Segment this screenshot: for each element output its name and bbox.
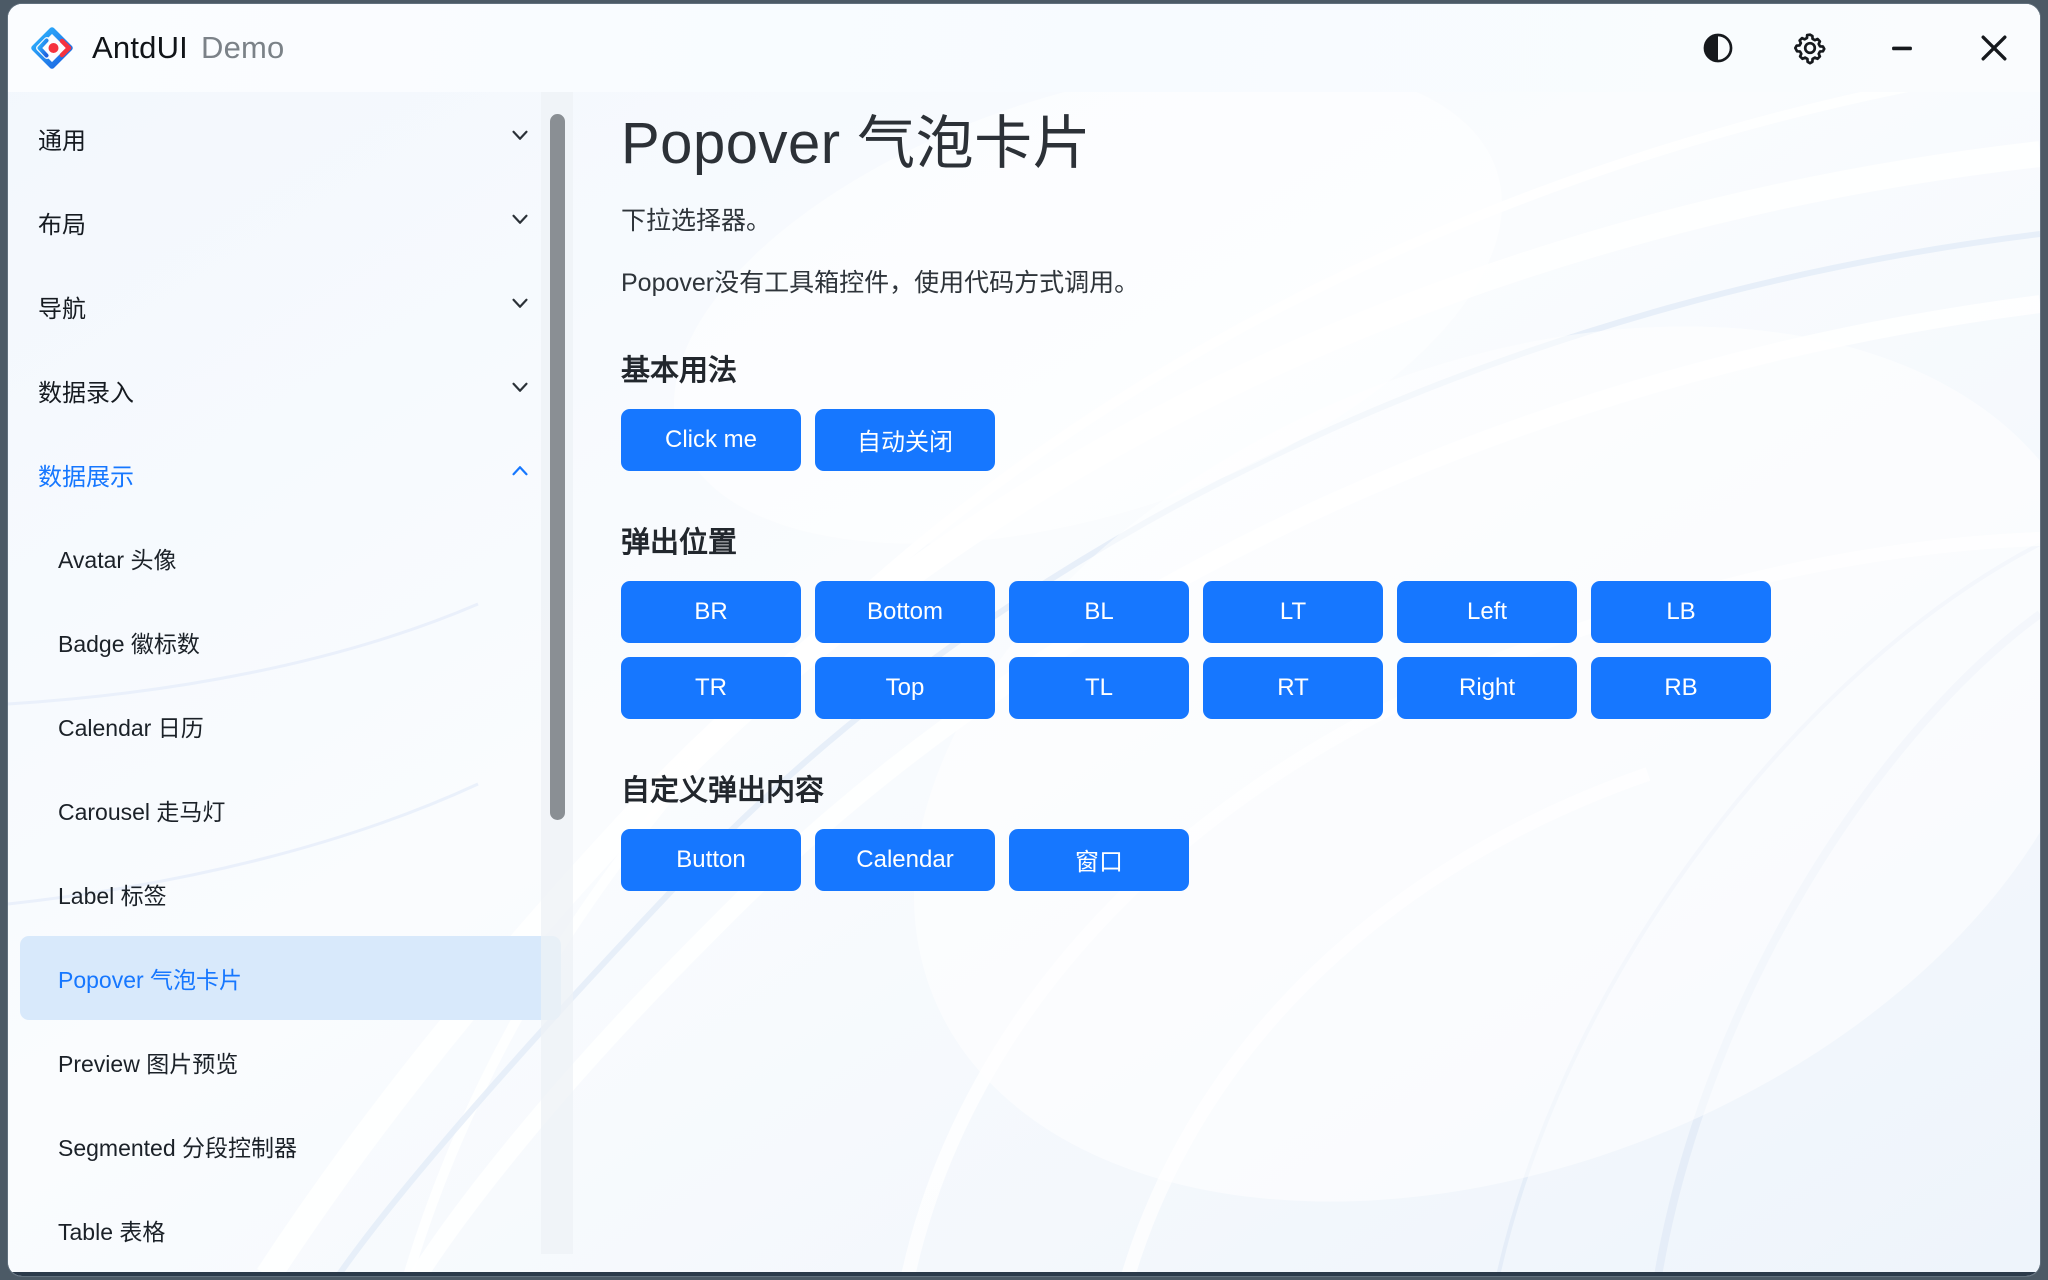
sidebar-item-avatar[interactable]: Avatar 头像: [20, 516, 561, 600]
app-window: AntdUIDemo: [8, 4, 2040, 1276]
gear-icon: [1792, 30, 1828, 66]
body: 通用 布局 导航 数据录入: [8, 92, 2040, 1276]
custom-calendar-button[interactable]: Calendar: [815, 829, 995, 891]
page-description-secondary: Popover没有工具箱控件，使用代码方式调用。: [621, 263, 2040, 299]
button-row-position-top: TR Top TL RT Right RB: [621, 657, 2040, 719]
position-left-button[interactable]: Left: [1397, 581, 1577, 643]
close-button[interactable]: [1948, 4, 2040, 92]
position-tr-button[interactable]: TR: [621, 657, 801, 719]
sidebar-item-carousel[interactable]: Carousel 走马灯: [20, 768, 561, 852]
page-title: Popover 气泡卡片: [621, 108, 2040, 181]
position-right-button[interactable]: Right: [1397, 657, 1577, 719]
sidebar-item-label: Carousel 走马灯: [58, 793, 225, 827]
antdui-diamond-logo-icon: [30, 26, 74, 70]
button-row-basic-usage: Click me 自动关闭: [621, 409, 2040, 471]
position-bottom-button[interactable]: Bottom: [815, 581, 995, 643]
sidebar-item-table[interactable]: Table 表格: [20, 1188, 561, 1272]
sidebar: 通用 布局 导航 数据录入: [8, 92, 573, 1276]
sidebar-item-popover[interactable]: Popover 气泡卡片: [20, 936, 561, 1020]
section-heading-basic-usage: 基本用法: [621, 347, 2040, 389]
position-rb-button[interactable]: RB: [1591, 657, 1771, 719]
sidebar-item-label: Preview 图片预览: [58, 1045, 238, 1079]
sidebar-item-preview[interactable]: Preview 图片预览: [20, 1020, 561, 1104]
chevron-down-icon: [507, 374, 533, 407]
auto-close-button[interactable]: 自动关闭: [815, 409, 995, 471]
sidebar-item-label[interactable]: Label 标签: [20, 852, 561, 936]
sidebar-scrollbar-track[interactable]: [541, 92, 573, 1254]
window-controls: [1672, 4, 2040, 92]
sidebar-item-label: Label 标签: [58, 877, 167, 911]
sidebar-item-label: Table 表格: [58, 1213, 165, 1247]
position-bl-button[interactable]: BL: [1009, 581, 1189, 643]
sidebar-item-badge[interactable]: Badge 徽标数: [20, 600, 561, 684]
minimize-button[interactable]: [1856, 4, 1948, 92]
sidebar-group-shujuzhanshi[interactable]: 数据展示: [8, 432, 573, 516]
app-name: AntdUI: [92, 30, 188, 65]
sidebar-item-calendar[interactable]: Calendar 日历: [20, 684, 561, 768]
window-title: AntdUIDemo: [92, 30, 284, 66]
minimize-icon: [1885, 31, 1919, 65]
sidebar-group-shujuluru[interactable]: 数据录入: [8, 348, 573, 432]
sidebar-group-label: 数据录入: [38, 373, 134, 408]
sidebar-group-label: 布局: [38, 205, 86, 240]
close-icon: [1974, 28, 2014, 68]
button-row-custom-content: Button Calendar 窗口: [621, 829, 2040, 891]
custom-button-button[interactable]: Button: [621, 829, 801, 891]
click-me-button[interactable]: Click me: [621, 409, 801, 471]
chevron-up-icon: [507, 458, 533, 491]
chevron-down-icon: [507, 206, 533, 239]
section-heading-popup-position: 弹出位置: [621, 519, 2040, 561]
sidebar-item-label: Calendar 日历: [58, 709, 204, 743]
contrast-icon: [1701, 31, 1735, 65]
title-bar: AntdUIDemo: [8, 4, 2040, 92]
sidebar-item-label: Badge 徽标数: [58, 625, 200, 659]
position-rt-button[interactable]: RT: [1203, 657, 1383, 719]
chevron-down-icon: [507, 290, 533, 323]
chevron-down-icon: [507, 122, 533, 155]
app-subtitle: Demo: [201, 30, 285, 65]
custom-window-button[interactable]: 窗口: [1009, 829, 1189, 891]
sidebar-item-segmented[interactable]: Segmented 分段控制器: [20, 1104, 561, 1188]
sidebar-item-label: Popover 气泡卡片: [58, 961, 242, 995]
sidebar-scrollbar-thumb[interactable]: [550, 114, 565, 820]
sidebar-group-label: 导航: [38, 289, 86, 324]
position-lt-button[interactable]: LT: [1203, 581, 1383, 643]
sidebar-item-label: Segmented 分段控制器: [58, 1129, 297, 1163]
position-br-button[interactable]: BR: [621, 581, 801, 643]
sidebar-group-buju[interactable]: 布局: [8, 180, 573, 264]
button-row-position-bottom: BR Bottom BL LT Left LB: [621, 581, 2040, 643]
position-tl-button[interactable]: TL: [1009, 657, 1189, 719]
sidebar-group-tongyong[interactable]: 通用: [8, 96, 573, 180]
sidebar-group-label: 数据展示: [38, 457, 134, 492]
page-description-primary: 下拉选择器。: [621, 201, 2040, 237]
section-heading-custom-content: 自定义弹出内容: [621, 767, 2040, 809]
settings-button[interactable]: [1764, 4, 1856, 92]
position-lb-button[interactable]: LB: [1591, 581, 1771, 643]
theme-toggle-button[interactable]: [1672, 4, 1764, 92]
sidebar-item-label: Avatar 头像: [58, 541, 176, 575]
window-bottom-edge: [8, 1272, 2040, 1276]
position-top-button[interactable]: Top: [815, 657, 995, 719]
sidebar-group-label: 通用: [38, 121, 86, 156]
sidebar-group-daohang[interactable]: 导航: [8, 264, 573, 348]
main-content: Popover 气泡卡片 下拉选择器。 Popover没有工具箱控件，使用代码方…: [573, 92, 2040, 1276]
